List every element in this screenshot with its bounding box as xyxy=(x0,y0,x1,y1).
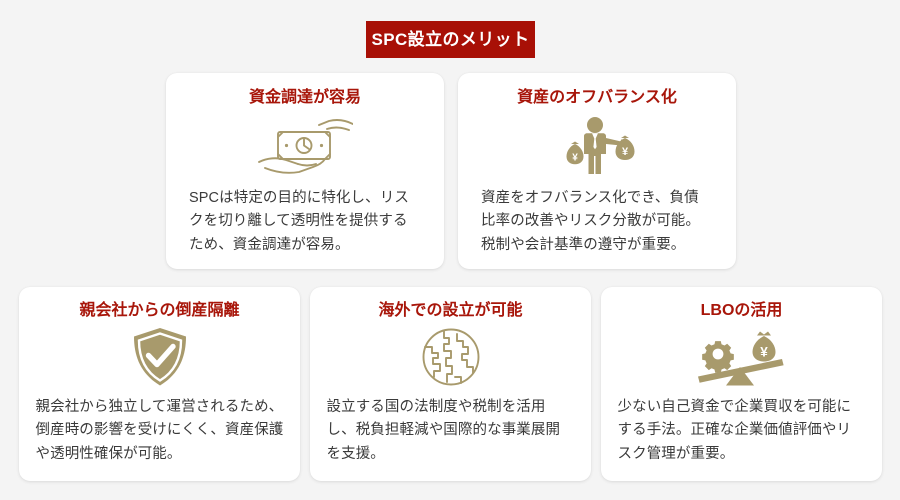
card-title: 海外での設立が可能 xyxy=(378,303,522,319)
card-title: LBOの活用 xyxy=(701,303,783,319)
page-title-banner: SPC設立のメリット xyxy=(366,21,535,58)
seesaw-gear-moneybag-icon: ¥ xyxy=(694,327,790,387)
card-title: 資産のオフバランス化 xyxy=(517,90,677,106)
benefit-card-bankruptcy-remoteness: 親会社からの倒産隔離 親会社から独立して運営されるため、倒産時の影響を受けにくく… xyxy=(19,287,300,481)
globe-icon xyxy=(421,327,481,387)
businessman-with-money-bags-icon: ¥ ¥ xyxy=(551,115,643,177)
benefit-card-funding: 資金調達が容易 SPCは特定の目的に特 xyxy=(166,73,444,269)
svg-text:¥: ¥ xyxy=(622,146,629,158)
infographic-canvas: SPC設立のメリット 資金調達が容易 xyxy=(0,0,900,500)
benefit-card-lbo: LBOの活用 ¥ 少ない自己資金で企業買収を可能にする手法。正確な企業価値評価や… xyxy=(601,287,882,481)
card-title: 資金調達が容易 xyxy=(249,90,361,106)
svg-text:¥: ¥ xyxy=(760,345,768,360)
svg-text:¥: ¥ xyxy=(572,153,578,164)
hands-exchanging-banknote-icon xyxy=(257,115,353,177)
benefit-card-off-balance: 資産のオフバランス化 ¥ ¥ xyxy=(458,73,736,269)
card-body: 親会社から独立して運営されるため、倒産時の影響を受けにくく、資産保護や透明性確保… xyxy=(36,396,284,466)
shield-check-icon xyxy=(131,327,189,387)
card-body: SPCは特定の目的に特化し、リスクを切り離して透明性を提供するため、資金調達が容… xyxy=(189,187,421,257)
card-body: 設立する国の法制度や税制を活用し、税負担軽減や国際的な事業展開を支援。 xyxy=(327,396,575,466)
card-body: 資産をオフバランス化でき、負債比率の改善やリスク分散が可能。税制や会計基準の遵守… xyxy=(481,187,713,257)
page-title: SPC設立のメリット xyxy=(372,31,530,48)
benefit-card-overseas: 海外での設立が可能 設立する国の法制度や税制を活用し、税負担軽減や国際的な事業展… xyxy=(310,287,591,481)
card-body: 少ない自己資金で企業買収を可能にする手法。正確な企業価値評価やリスク管理が重要。 xyxy=(618,396,866,466)
card-title: 親会社からの倒産隔離 xyxy=(79,303,239,319)
